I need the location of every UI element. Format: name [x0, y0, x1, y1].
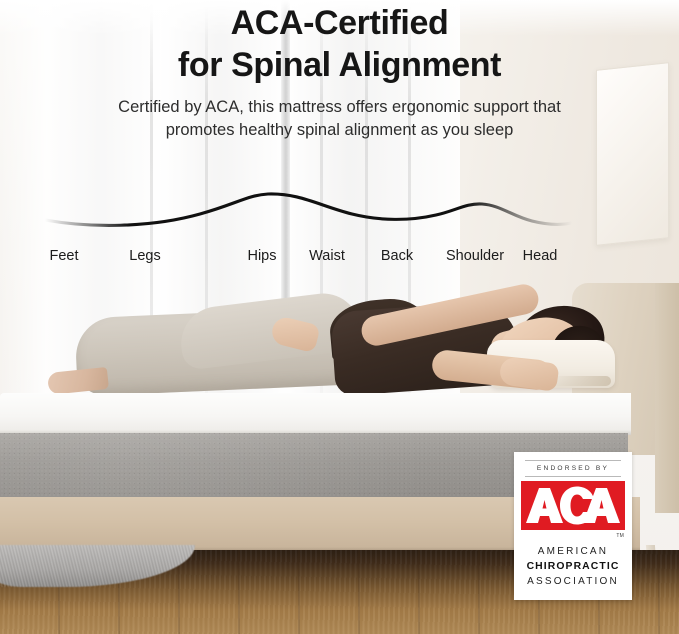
- spine-label-waist: Waist: [309, 248, 345, 264]
- badge-org-line-2: CHIROPRACTIC: [527, 559, 620, 574]
- mattress-top-layer: [0, 393, 631, 435]
- headline-line-1: ACA-Certified: [0, 2, 679, 44]
- spine-label-feet: Feet: [49, 248, 78, 264]
- badge-divider-bottom: [525, 476, 622, 477]
- trademark-symbol: TM: [616, 533, 624, 539]
- badge-endorsed-by-label: ENDORSED BY: [537, 465, 609, 472]
- spine-label-legs: Legs: [129, 248, 160, 264]
- subheadline-line-1: Certified by ACA, this mattress offers e…: [0, 96, 679, 119]
- spine-alignment-diagram: Feet Legs Hips Waist Back Shoulder Head: [0, 170, 679, 280]
- aca-logo-icon: TM: [521, 481, 625, 533]
- badge-org-line-1: AMERICAN: [527, 544, 620, 559]
- spine-label-row: Feet Legs Hips Waist Back Shoulder Head: [0, 248, 679, 272]
- badge-org-line-3: ASSOCIATION: [527, 574, 620, 589]
- page-title: ACA-Certified for Spinal Alignment: [0, 0, 679, 86]
- subheadline: Certified by ACA, this mattress offers e…: [0, 96, 679, 142]
- aca-endorsement-badge: ENDORSED BY TM AMERICAN CHIROPRACTIC ASS…: [514, 452, 632, 600]
- spine-label-hips: Hips: [247, 248, 276, 264]
- headline-line-2: for Spinal Alignment: [0, 44, 679, 86]
- aca-logo-svg: [521, 481, 625, 533]
- spine-curve-icon: [0, 170, 679, 250]
- subheadline-line-2: promotes healthy spinal alignment as you…: [0, 119, 679, 142]
- spine-label-shoulder: Shoulder: [446, 248, 504, 264]
- product-infographic: ACA-Certified for Spinal Alignment Certi…: [0, 0, 679, 634]
- badge-divider-top: [525, 460, 622, 461]
- spine-label-back: Back: [381, 248, 413, 264]
- spine-label-head: Head: [523, 248, 558, 264]
- badge-org-name: AMERICAN CHIROPRACTIC ASSOCIATION: [527, 544, 620, 589]
